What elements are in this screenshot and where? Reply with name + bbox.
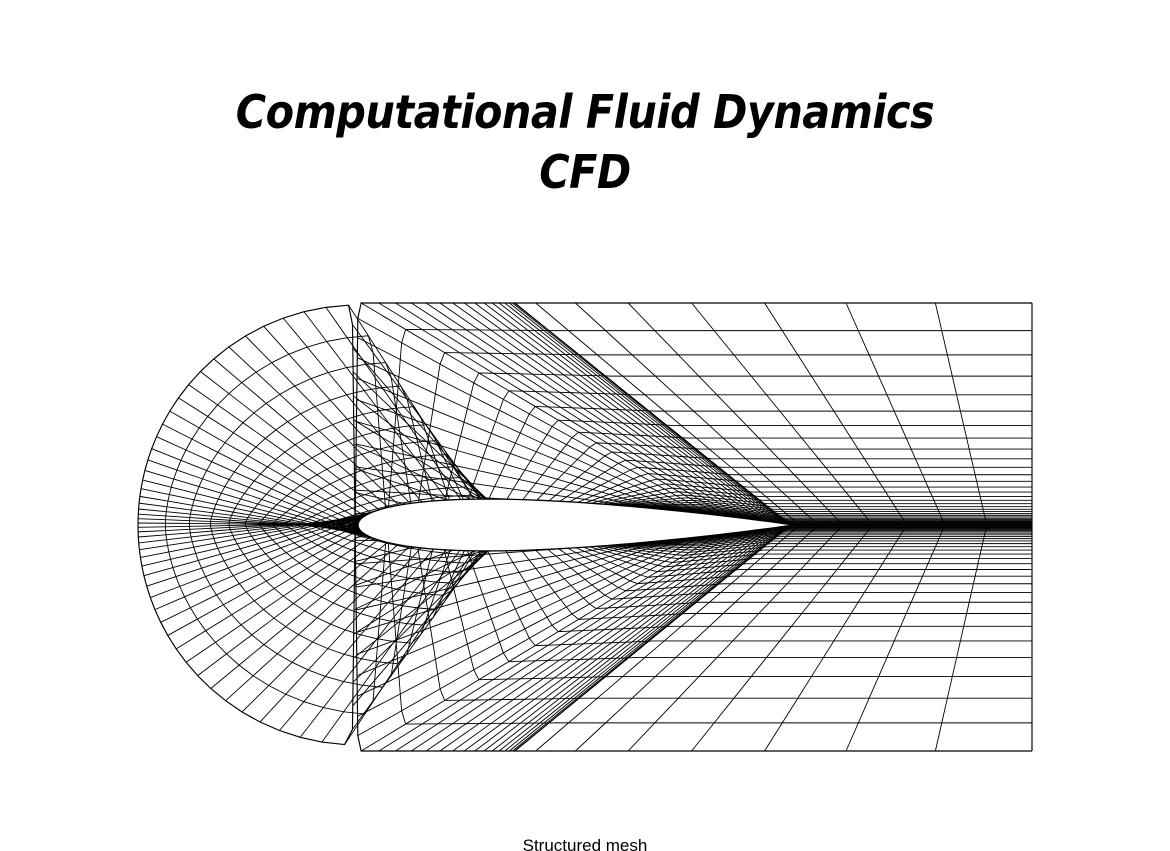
footer-caption-text: Structured mesh [0, 836, 1170, 851]
slide-canvas: Computational Fluid Dynamics CFD Structu… [0, 0, 1170, 851]
cfd-mesh-figure [0, 0, 1170, 851]
footer-caption-clipped: Structured mesh [0, 836, 1170, 851]
cfd-mesh-svg [0, 0, 1170, 851]
